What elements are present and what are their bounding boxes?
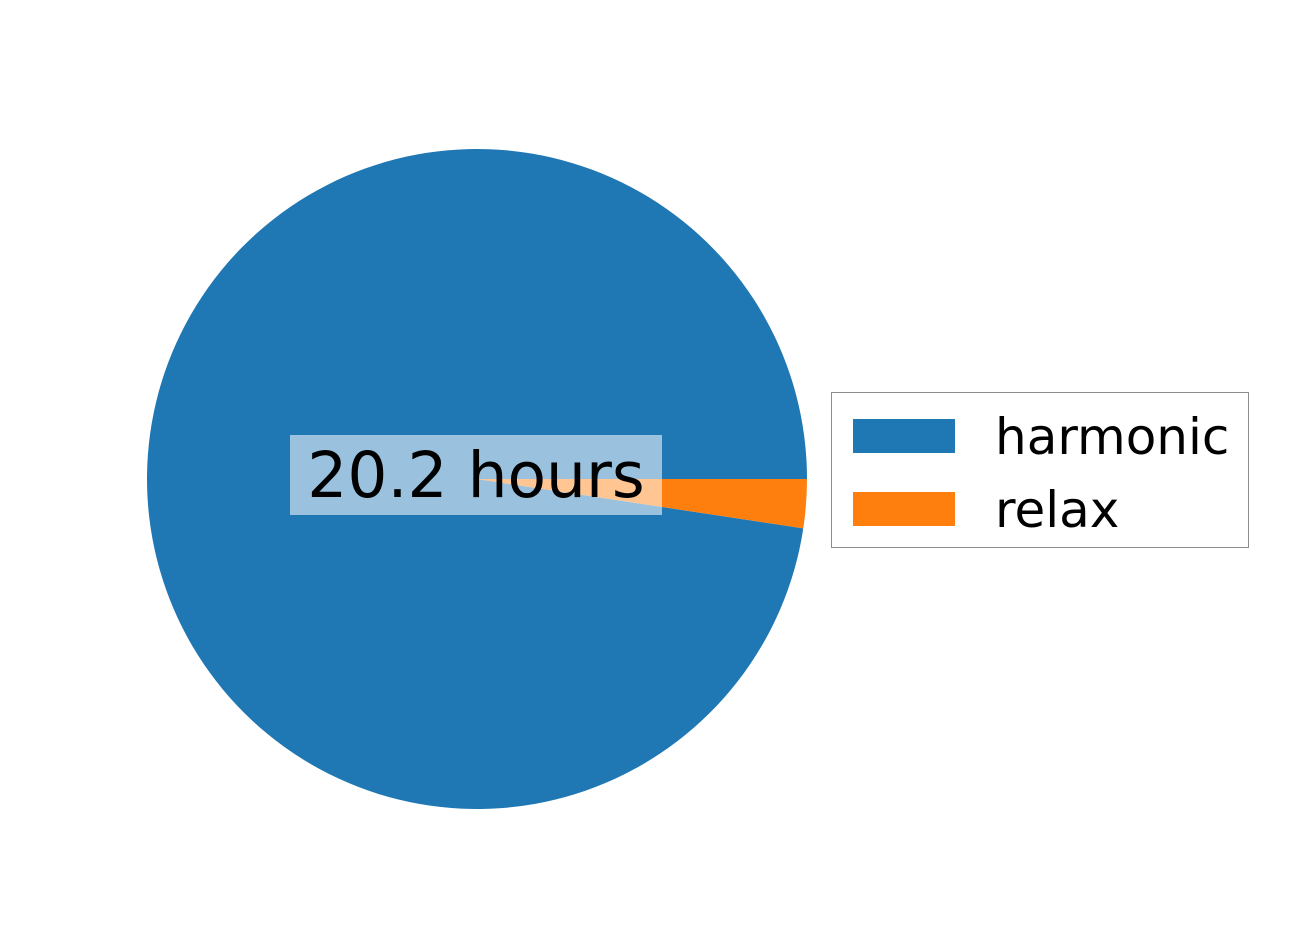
chart-legend: harmonic relax (831, 392, 1249, 548)
legend-item-harmonic[interactable]: harmonic (832, 412, 1248, 485)
legend-label-relax: relax (995, 485, 1119, 534)
pie-chart-figure: 20.2 hours harmonic relax (0, 0, 1307, 951)
legend-swatch-relax (853, 492, 955, 526)
legend-label-harmonic: harmonic (995, 412, 1229, 461)
legend-swatch-harmonic (853, 419, 955, 453)
pie-slice-value-label: 20.2 hours (290, 435, 662, 515)
legend-item-relax[interactable]: relax (832, 485, 1248, 558)
